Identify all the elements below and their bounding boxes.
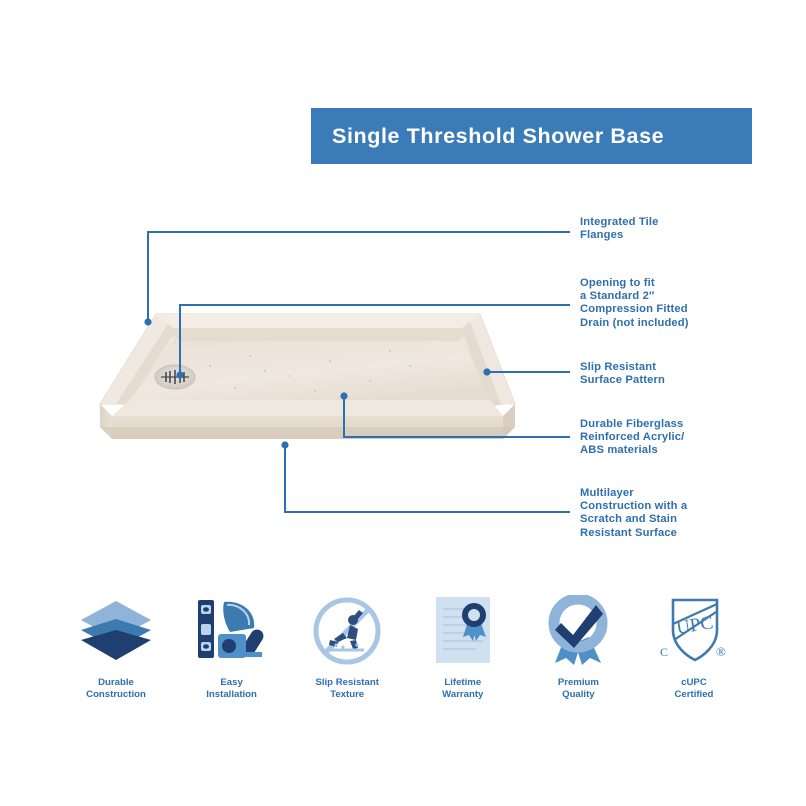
feature-durable-construction: Durable Construction: [60, 592, 172, 700]
certificate-icon: [432, 592, 494, 670]
feature-slip-resistant: Slip Resistant Texture: [291, 592, 403, 700]
check-rosette-icon: [543, 592, 613, 670]
feature-caption: Durable Construction: [86, 677, 146, 700]
callout-multilayer-construction: Multilayer Construction with a Scratch a…: [580, 487, 687, 540]
callout-durable-materials: Durable Fiberglass Reinforced Acrylic/ A…: [580, 418, 684, 458]
no-slip-icon: [312, 592, 382, 670]
feature-cupc-certified: UPC C ® cUPC Certified: [638, 592, 750, 700]
back-flange-inner: [164, 328, 488, 337]
feature-caption: cUPC Certified: [675, 677, 714, 700]
layers-icon: [78, 592, 154, 670]
upc-right-mark: ®: [716, 644, 726, 659]
shower-base-illustration: [60, 296, 530, 472]
feature-caption: Slip Resistant Texture: [315, 677, 378, 700]
page-title: Single Threshold Shower Base: [311, 124, 664, 149]
callout-integrated-tile-flanges: Integrated Tile Flanges: [580, 216, 659, 242]
upc-shield-text: UPC: [675, 612, 715, 639]
feature-caption: Lifetime Warranty: [442, 677, 483, 700]
callout-drain-opening: Opening to fit a Standard 2″ Compression…: [580, 277, 689, 330]
feature-strip: Durable Construction: [60, 592, 750, 720]
callout-slip-resistant-surface: Slip Resistant Surface Pattern: [580, 361, 665, 387]
threshold-top: [112, 400, 503, 416]
base-bottom-edge: [100, 427, 515, 439]
back-flange: [156, 314, 484, 328]
feature-lifetime-warranty: Lifetime Warranty: [407, 592, 519, 700]
infographic-canvas: Single Threshold Shower Base: [0, 0, 806, 806]
feature-easy-installation: Easy Installation: [176, 592, 288, 700]
upc-left-mark: C: [660, 645, 668, 659]
feature-premium-quality: Premium Quality: [522, 592, 634, 700]
feature-caption: Premium Quality: [558, 677, 599, 700]
pan-back-shadow: [176, 337, 462, 341]
feature-caption: Easy Installation: [206, 677, 257, 700]
tools-icon: [194, 592, 270, 670]
title-banner: Single Threshold Shower Base: [311, 108, 752, 164]
upc-shield-icon: UPC C ®: [655, 592, 733, 670]
